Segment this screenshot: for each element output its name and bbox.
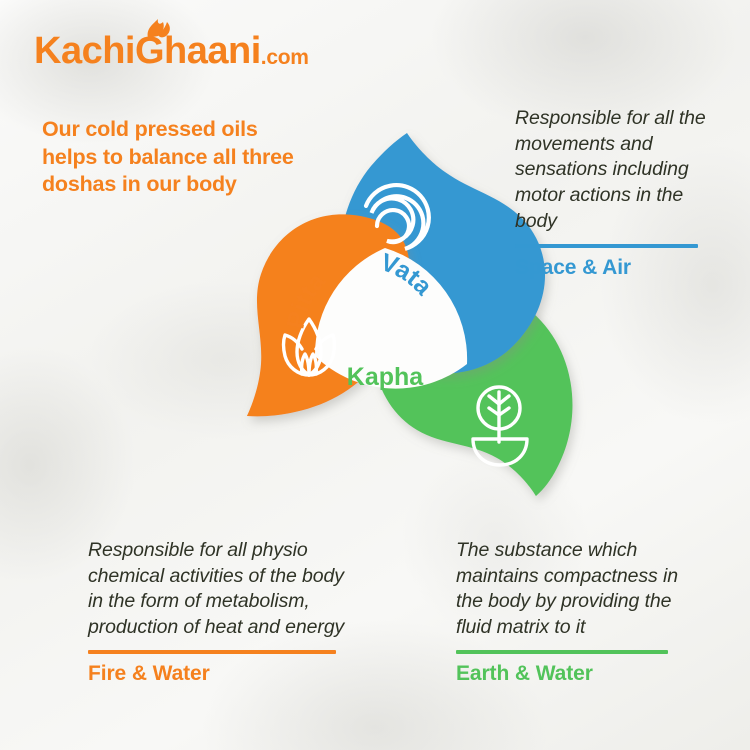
description-text-kapha: The substance which maintains compactnes… bbox=[456, 538, 704, 641]
description-block-pitta: Responsible for all physio chemical acti… bbox=[88, 538, 346, 686]
description-label-kapha: Earth & Water bbox=[456, 662, 704, 686]
description-block-kapha: The substance which maintains compactnes… bbox=[456, 538, 704, 686]
description-rule-kapha bbox=[456, 650, 668, 654]
description-text-pitta: Responsible for all physio chemical acti… bbox=[88, 538, 346, 641]
logo-text-kachi: Kachi bbox=[34, 32, 135, 70]
description-rule-vata bbox=[515, 244, 698, 248]
logo-text-tld: .com bbox=[261, 47, 309, 70]
infographic-poster: Kachi Ghaani .com Our cold pressed oils … bbox=[0, 0, 750, 750]
brand-logo[interactable]: Kachi Ghaani .com bbox=[34, 32, 309, 70]
flame-icon bbox=[144, 13, 174, 39]
description-label-vata: Space & Air bbox=[515, 256, 720, 280]
logo-g-with-flame: Ghaani bbox=[135, 32, 261, 70]
description-label-pitta: Fire & Water bbox=[88, 662, 346, 686]
description-rule-pitta bbox=[88, 650, 336, 654]
description-text-vata: Responsible for all the movements and se… bbox=[515, 106, 720, 235]
description-block-vata: Responsible for all the movements and se… bbox=[515, 106, 720, 280]
dosha-label-kapha: Kapha bbox=[347, 363, 425, 391]
